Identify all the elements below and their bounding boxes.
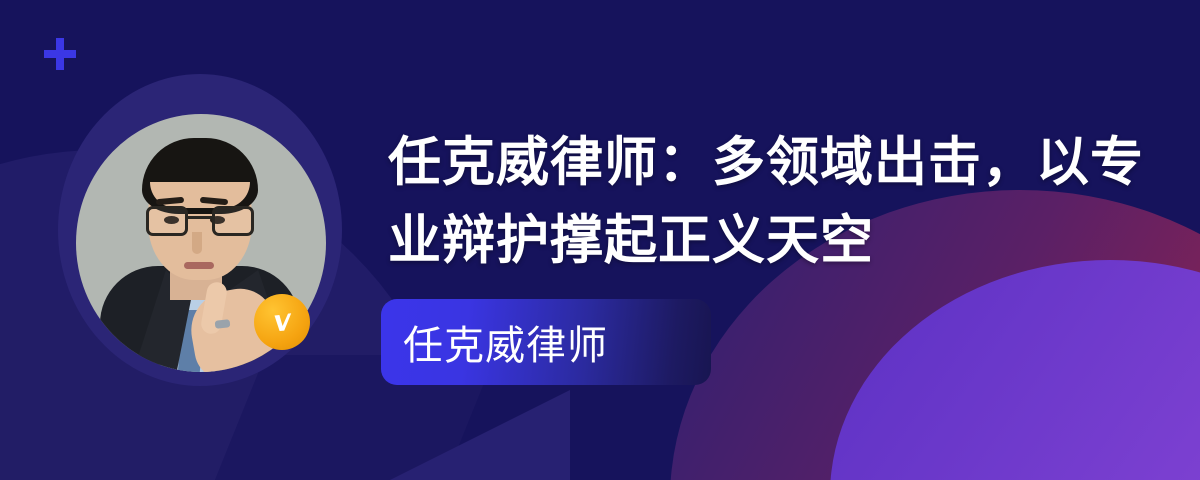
author-cta-label: 任克威律师	[403, 313, 608, 371]
portrait-nose	[192, 232, 202, 254]
glasses-lens-right	[212, 206, 254, 236]
glasses-bridge	[188, 216, 214, 219]
gradient-blob-violet	[830, 260, 1200, 480]
plus-icon	[44, 38, 76, 70]
profile-banner: 任克威律师 任克威律师：多领域出击，以专业辩护撑起正义天空	[0, 0, 1200, 480]
plus-icon-bar-vertical	[56, 38, 64, 70]
verified-badge-icon	[254, 294, 310, 350]
angular-facet-diagonal	[270, 390, 570, 480]
page-title: 任克威律师：多领域出击，以专业辩护撑起正义天空	[388, 124, 1178, 280]
portrait-mouth	[184, 262, 214, 269]
glasses-lens-left	[146, 206, 188, 236]
avatar[interactable]	[58, 74, 342, 386]
portrait-ring-jewelry	[215, 319, 231, 329]
author-cta-button[interactable]: 任克威律师	[381, 299, 711, 385]
